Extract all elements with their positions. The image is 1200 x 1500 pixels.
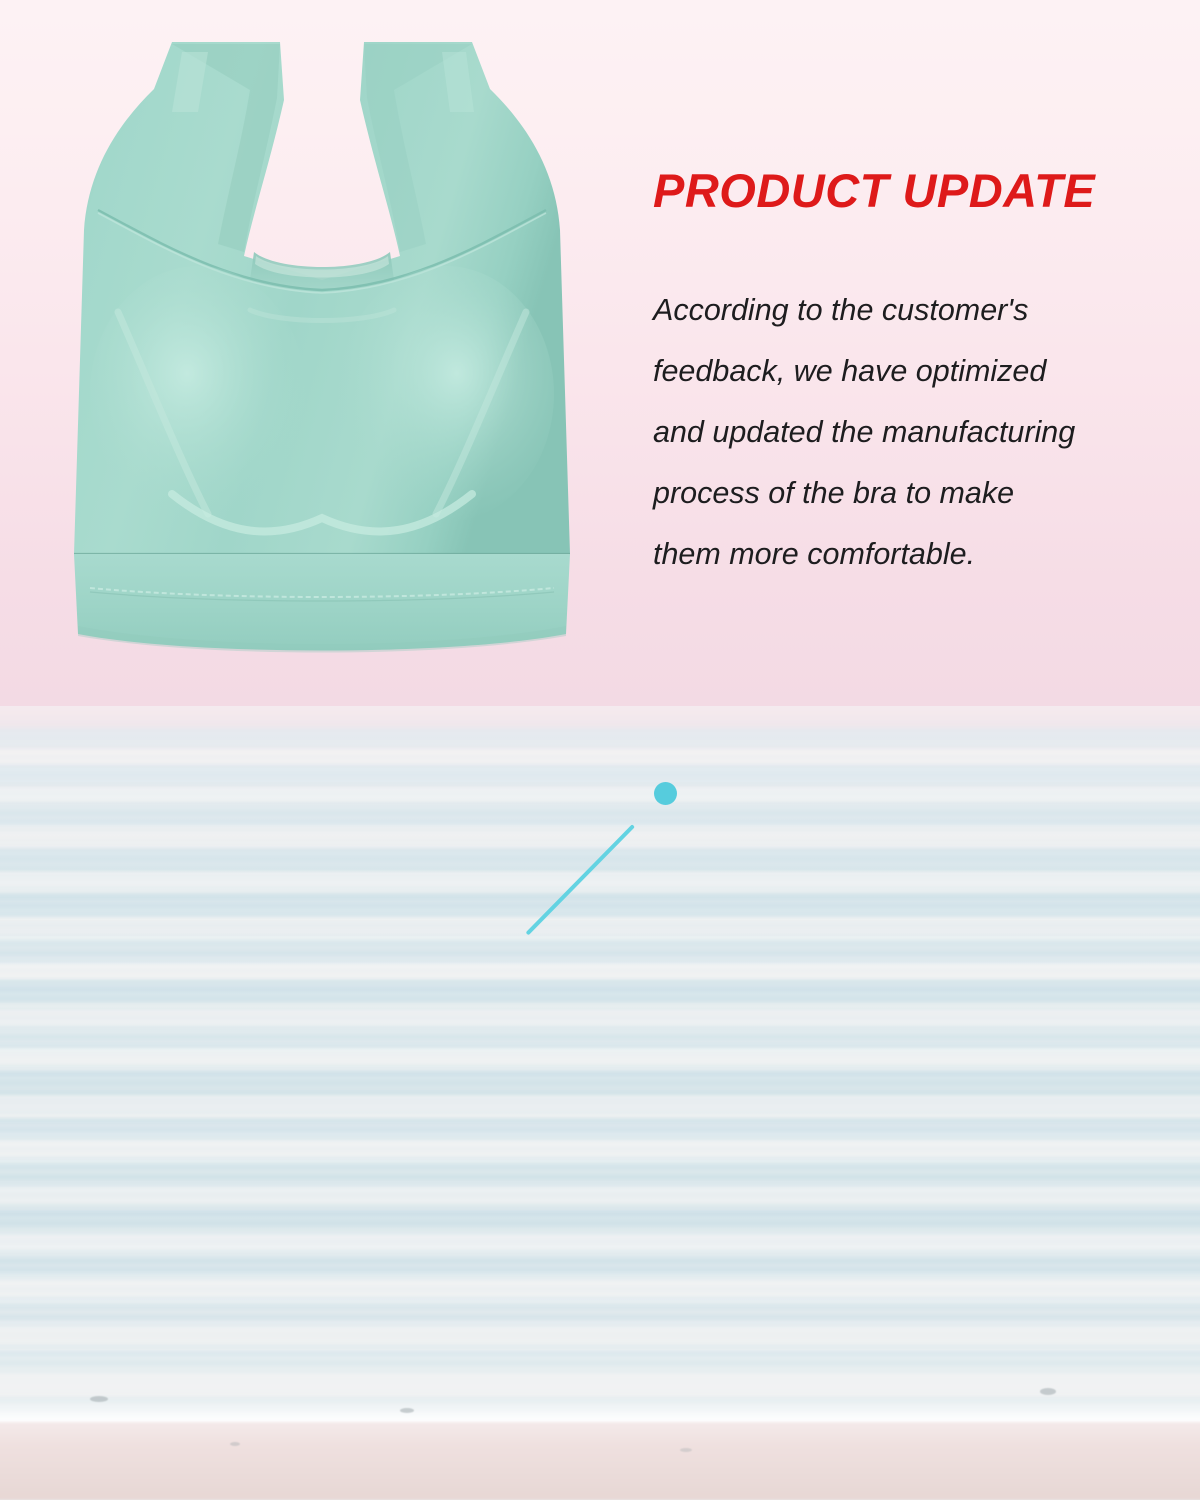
ocean-background xyxy=(0,706,1200,1500)
body-line: them more comfortable. xyxy=(653,524,1075,585)
body-product-update: According to the customer's feedback, we… xyxy=(653,280,1075,585)
body-line: feedback, we have optimized xyxy=(653,341,1075,402)
panel-flat-lock-seams: FLAT LOCK SEAMS The shoulder straps inte… xyxy=(0,706,1200,1500)
sports-bra-front-view xyxy=(22,0,642,699)
sports-bra-inside-view xyxy=(520,1468,1180,1500)
body-line: and updated the manufacturing xyxy=(653,402,1075,463)
panel-product-update: PRODUCT UPDATE According to the customer… xyxy=(0,0,1200,706)
headline-product-update: PRODUCT UPDATE xyxy=(653,163,1095,218)
flat-lock-seam-pointer-dot xyxy=(654,782,677,805)
body-line: According to the customer's xyxy=(653,280,1075,341)
infographic-page: PRODUCT UPDATE According to the customer… xyxy=(0,0,1200,1500)
body-line: process of the bra to make xyxy=(653,463,1075,524)
